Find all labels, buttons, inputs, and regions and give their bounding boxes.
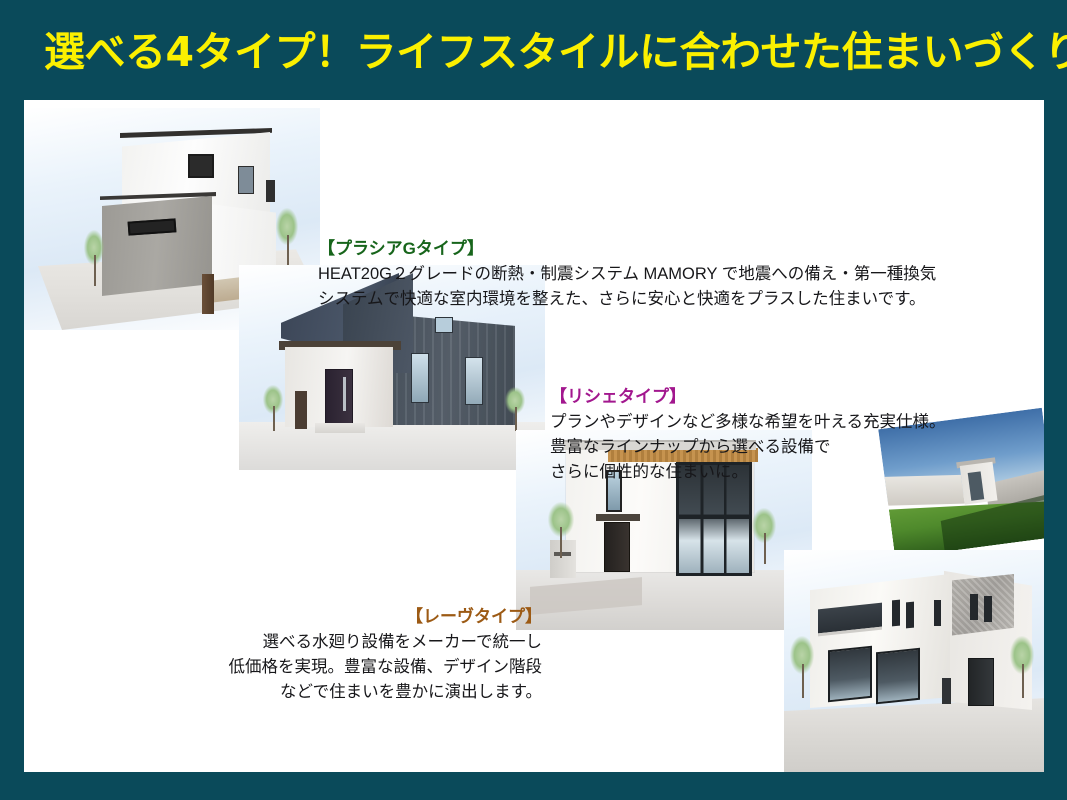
window-large (828, 646, 872, 703)
window-slim (266, 180, 275, 202)
stone-accent-wall (952, 574, 1014, 638)
type-block-riche: 【リシェタイプ】 プランやデザインなど多様な希望を叶える充実仕様。 豊富なライン… (550, 384, 946, 485)
poster: 選べる4タイプ！ライフスタイルに合わせた住まいづくり♪ (0, 0, 1067, 800)
page-title: 選べる4タイプ！ライフスタイルに合わせた住まいづくり♪ (44, 18, 1067, 78)
type-desc-line: さらに個性的な住まいに。 (550, 460, 946, 485)
porch-canopy (596, 514, 640, 521)
window-large (876, 648, 920, 705)
type-heading-riche: 【リシェタイプ】 (550, 384, 946, 410)
type-block-leve: 【レーヴタイプ】 選べる水廻り設備をメーカーで統一し 低価格を実現。豊富な設備、… (154, 604, 542, 705)
gate-post (202, 274, 214, 314)
content-panel: 【プラシアGタイプ】 HEAT20G２グレードの断熱・制震システム MAMORY… (24, 100, 1044, 772)
mailbox-post (942, 678, 951, 704)
photo-ground (239, 422, 545, 470)
type-desc-line: 選べる水廻り設備をメーカーで統一し (154, 630, 542, 655)
type-desc-line: 豊富なラインナップから選べる設備で (550, 435, 946, 460)
tree-icon (790, 636, 814, 698)
window-square (188, 154, 214, 178)
type-heading-leve: 【レーヴタイプ】 (154, 604, 542, 630)
door-handle-icon (343, 377, 346, 411)
tree-icon (276, 208, 298, 268)
type-heading-purasia-g: 【プラシアGタイプ】 (318, 236, 936, 262)
house-lower-volume (102, 196, 212, 296)
window-slim (970, 594, 978, 620)
front-door (968, 658, 994, 706)
tree-icon (263, 385, 283, 431)
tree-icon (752, 508, 776, 564)
window-tall (465, 357, 483, 405)
tree-icon (505, 387, 525, 431)
window-slim (984, 596, 992, 622)
front-door (325, 369, 353, 427)
window-slim (934, 600, 941, 626)
entry-steps (315, 423, 365, 433)
type-desc-line: システムで快適な室内環境を整えた、さらに安心と快適をプラスした住まいです。 (318, 287, 936, 312)
window-tall (411, 353, 429, 403)
type-desc-line: 低価格を実現。豊富な設備、デザイン階段 (154, 655, 542, 680)
tree-icon (1010, 636, 1034, 698)
type-desc-line: などで住まいを豊かに演出します。 (154, 680, 542, 705)
front-door (604, 522, 630, 572)
tree-icon (548, 502, 574, 558)
window-slim (906, 602, 914, 629)
mailbox-post (295, 391, 307, 429)
window-slim (892, 600, 900, 627)
tree-icon (84, 230, 104, 286)
type-desc-line: HEAT20G２グレードの断熱・制震システム MAMORY で地震への備え・第一… (318, 262, 936, 287)
window-tall (238, 166, 254, 194)
type-block-purasia-g: 【プラシアGタイプ】 HEAT20G２グレードの断熱・制震システム MAMORY… (318, 236, 936, 312)
window-small (435, 317, 453, 333)
poster-title-bar: 選べる4タイプ！ライフスタイルに合わせた住まいづくり♪ (0, 0, 1067, 96)
house-photo-sorae (784, 550, 1044, 772)
type-desc-line: プランやデザインなど多様な希望を叶える充実仕様。 (550, 410, 946, 435)
